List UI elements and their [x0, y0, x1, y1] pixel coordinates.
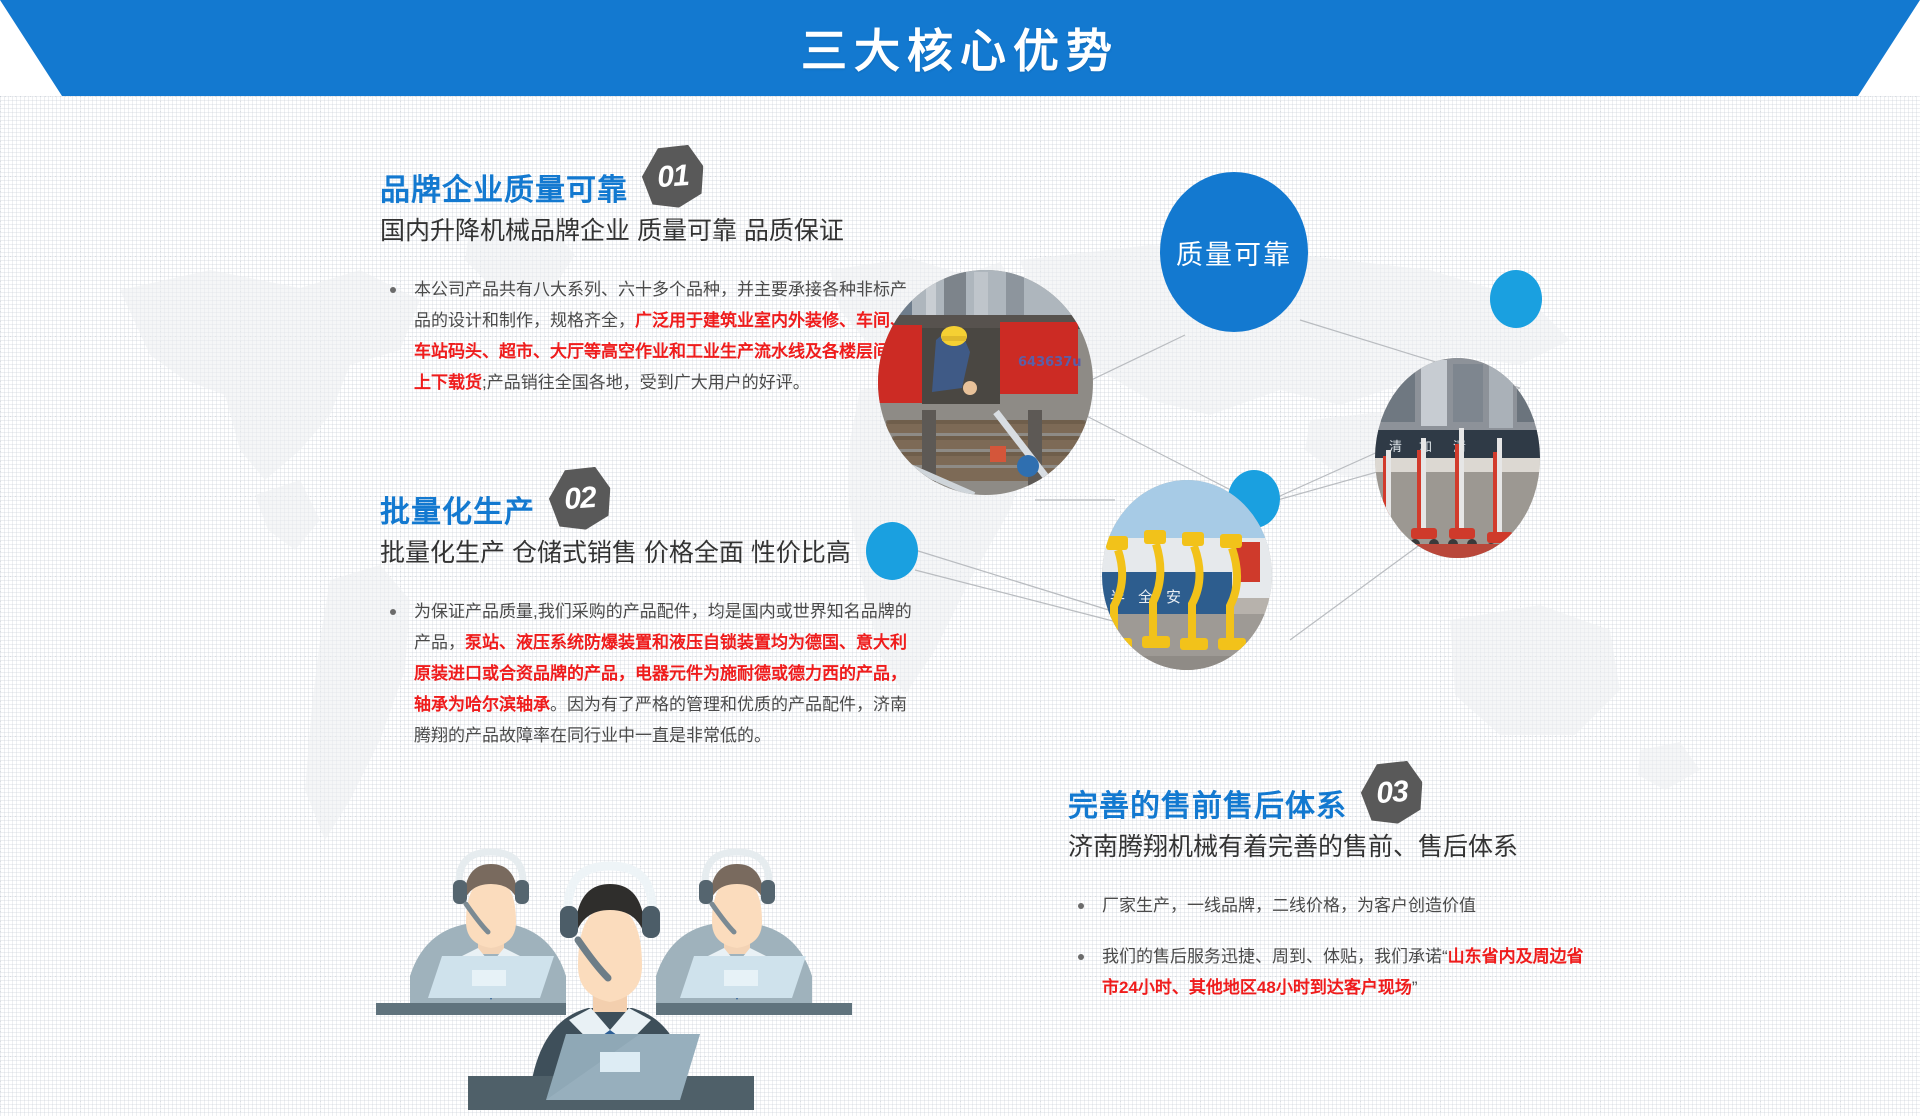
network-center-label: 质量可靠 [1176, 233, 1292, 272]
body-text: 厂家生产，一线品牌，二线价格，为客户创造价值 [1102, 896, 1476, 915]
body-text: ;产品销往全国各地，受到广大用户的好评。 [482, 373, 810, 392]
list-item: 本公司产品共有八大系列、六十多个品种，并主要承接各种非标产品的设计和制作，规格齐… [380, 274, 920, 398]
agent-left [376, 852, 566, 1015]
network-diagram: 质量可靠 643637u [860, 150, 1600, 670]
factory-worker-photo-art: 643637u [878, 270, 1093, 495]
body-text: 我们的售后服务迅捷、周到、体贴，我们承诺“ [1102, 947, 1448, 966]
list-item: 为保证产品质量,我们采购的产品配件，均是国内或世界知名品牌的产品，泵站、液压系统… [380, 596, 920, 751]
dot-bottom-left [866, 522, 918, 580]
section-01-subtitle: 国内升降机械品牌企业 质量可靠 品质保证 [380, 214, 920, 248]
call-center-team-illustration [360, 790, 860, 1116]
section-03-heading: 完善的售前售后体系 03 [1068, 788, 1588, 826]
agent-right [656, 852, 852, 1015]
section-02-number-badge: 02 [547, 466, 613, 532]
list-item: 我们的售后服务迅捷、周到、体贴，我们承诺“山东省内及周边省市24小时、其他地区4… [1068, 941, 1588, 1003]
section-01-bullets: 本公司产品共有八大系列、六十多个品种，并主要承接各种非标产品的设计和制作，规格齐… [380, 274, 920, 398]
factory-worker-photo: 643637u [878, 270, 1093, 495]
section-03-title: 完善的售前售后体系 [1068, 788, 1347, 826]
advantage-section-03: 完善的售前售后体系 03 济南腾翔机械有着完善的售前、售后体系 厂家生产，一线品… [1068, 788, 1588, 1023]
section-02-bullets: 为保证产品质量,我们采购的产品配件，均是国内或世界知名品牌的产品，泵站、液压系统… [380, 596, 920, 751]
section-01-title: 品牌企业质量可靠 [380, 172, 628, 210]
advantage-section-02: 批量化生产 02 批量化生产 仓储式销售 价格全面 性价比高 为保证产品质量,我… [380, 494, 920, 771]
network-center-node: 质量可靠 [1160, 172, 1308, 332]
section-01-heading: 品牌企业质量可靠 01 [380, 172, 920, 210]
list-item: 厂家生产，一线品牌，二线价格，为客户创造价值 [1068, 890, 1588, 921]
section-01-number-badge: 01 [640, 144, 706, 210]
section-03-number-badge: 03 [1359, 760, 1425, 826]
section-02-subtitle: 批量化生产 仓储式销售 价格全面 性价比高 [380, 536, 920, 570]
lift-platform-yard-photo-art: 清 加 清 [1375, 358, 1540, 558]
dot-top-right [1490, 270, 1542, 328]
section-02-title: 批量化生产 [380, 494, 535, 532]
aerial-work-platforms-photo-art: 半 全 安 [1102, 480, 1272, 670]
body-text: ” [1412, 978, 1418, 997]
svg-text:643637u: 643637u [1018, 355, 1082, 370]
lift-platform-yard-photo: 清 加 清 [1375, 358, 1540, 558]
section-03-subtitle: 济南腾翔机械有着完善的售前、售后体系 [1068, 830, 1588, 864]
aerial-work-platforms-photo: 半 全 安 [1102, 480, 1272, 670]
svg-text:安: 安 [1166, 588, 1181, 606]
section-02-heading: 批量化生产 02 [380, 494, 920, 532]
page-header-banner: 三大核心优势 [0, 0, 1920, 96]
page-title: 三大核心优势 [0, 0, 1920, 96]
advantage-section-01: 品牌企业质量可靠 01 国内升降机械品牌企业 质量可靠 品质保证 本公司产品共有… [380, 172, 920, 418]
section-03-bullets: 厂家生产，一线品牌，二线价格，为客户创造价值 我们的售后服务迅捷、周到、体贴，我… [1068, 890, 1588, 1003]
